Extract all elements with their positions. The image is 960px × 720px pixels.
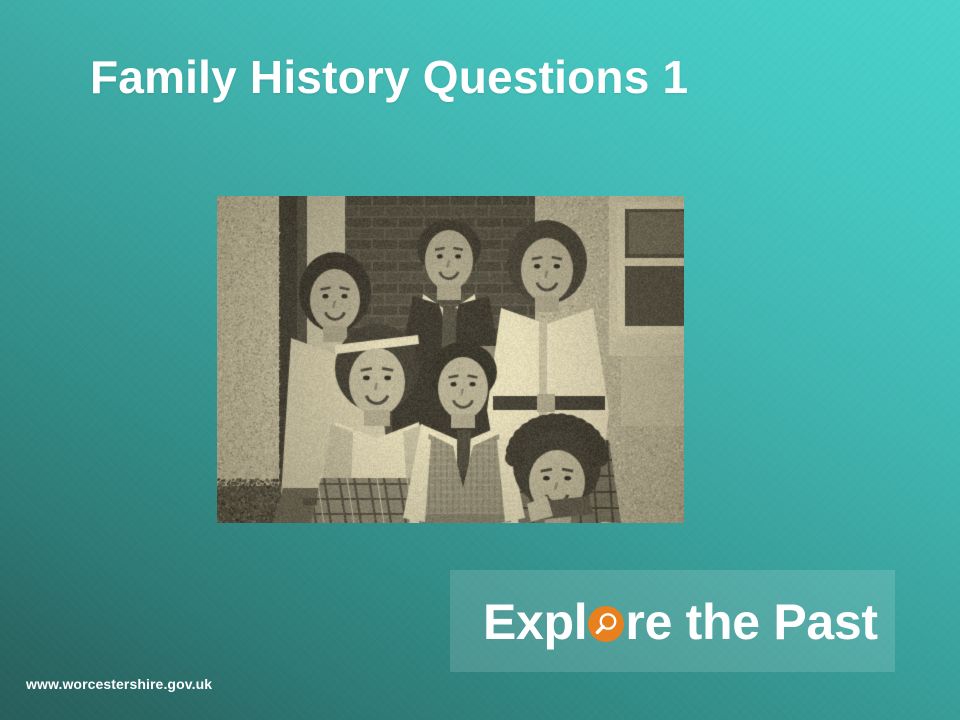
presentation-slide: Family History Questions 1 Expl re the P… xyxy=(0,0,960,720)
photograph-image xyxy=(217,196,684,523)
logo-text-after: re the Past xyxy=(625,597,877,647)
explore-the-past-logo: Expl re the Past xyxy=(483,597,878,647)
magnifying-glass-icon xyxy=(588,606,624,642)
logo-text-before: Expl xyxy=(483,597,587,647)
page-title: Family History Questions 1 xyxy=(90,52,688,104)
footer-website-url: www.worcestershire.gov.uk xyxy=(26,676,212,692)
vintage-family-photograph xyxy=(217,196,684,523)
